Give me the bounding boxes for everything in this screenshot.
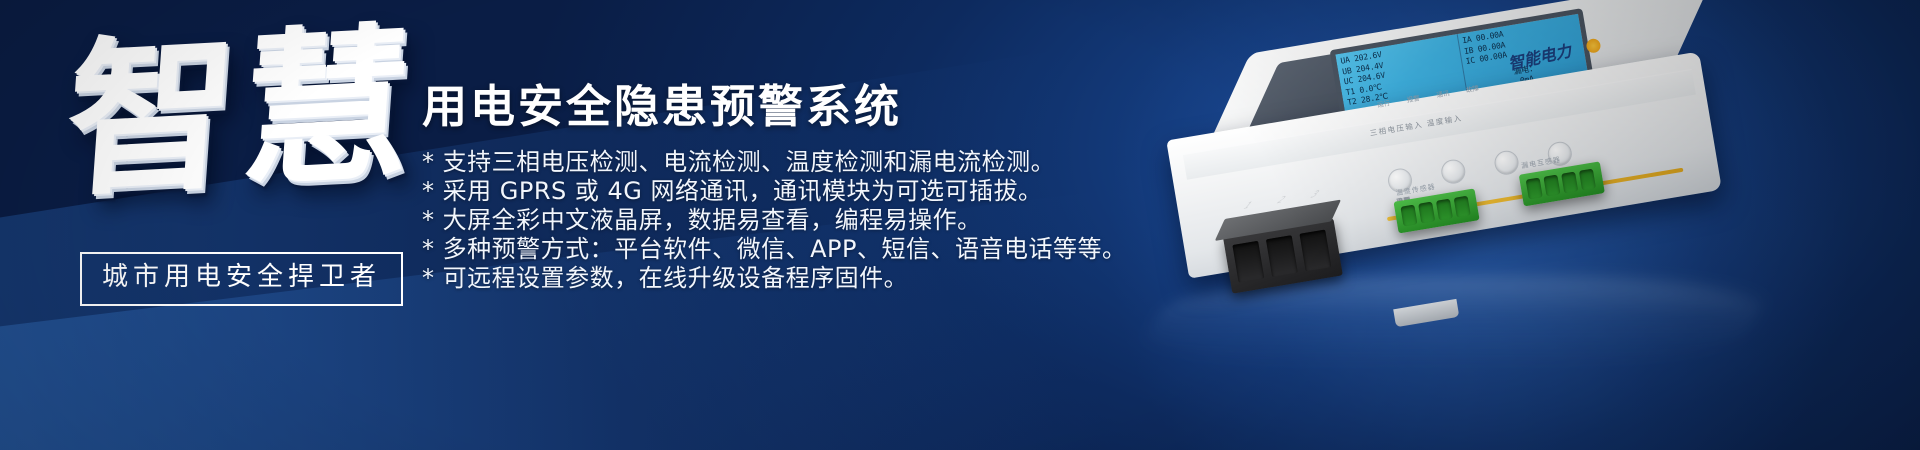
green-terminal-pin	[1418, 202, 1435, 224]
terminal-block-green-left: 温度传感器	[1393, 188, 1479, 233]
product-image: UA 202.6V UB 204.4V UC 204.6V T1 0.0℃ T2…	[1085, 8, 1885, 388]
device-button-down[interactable]: 下翻	[1493, 149, 1521, 177]
green-terminal-pin	[1526, 177, 1543, 199]
calligraphy-text: 智慧	[61, 19, 415, 205]
terminal-number-1: 1	[1241, 200, 1255, 212]
calligraphy-block: 智慧	[68, 28, 408, 268]
led-label-fault: 故障	[1465, 82, 1479, 94]
terminal-number-2: 2	[1274, 194, 1288, 206]
device-button-up[interactable]: 上翻	[1439, 158, 1467, 186]
green-terminal-pin	[1454, 196, 1471, 218]
terminal-pin	[1266, 235, 1298, 277]
green-terminal-pin	[1543, 175, 1560, 197]
list-item: * 大屏全彩中文液晶屏，数据易查看，编程易操作。	[422, 206, 1122, 235]
green-terminal-pin	[1436, 199, 1453, 221]
led-label-alarm: 报警	[1406, 92, 1420, 104]
terminal-number-3: 3	[1308, 188, 1322, 200]
green-terminal-pin	[1400, 205, 1417, 227]
green-terminal-pin	[1579, 169, 1596, 191]
led-label-run: 运行	[1376, 97, 1390, 109]
list-item: * 支持三相电压检测、电流检测、温度检测和漏电流检测。	[422, 148, 1122, 177]
copy-block: 用电安全隐患预警系统 * 支持三相电压检测、电流检测、温度检测和漏电流检测。 *…	[422, 82, 1122, 293]
feature-list: * 支持三相电压检测、电流检测、温度检测和漏电流检测。 * 采用 GPRS 或 …	[422, 148, 1122, 293]
led-label-comm: 通讯	[1435, 87, 1449, 99]
terminal-block-green-right: 漏电互感器	[1519, 161, 1605, 206]
promo-banner: 智慧 城市用电安全捍卫者 用电安全隐患预警系统 * 支持三相电压检测、电流检测、…	[0, 0, 1920, 450]
tagline-badge: 城市用电安全捍卫者	[80, 252, 403, 306]
front-strip-label: 三相电压输入 温度输入	[1369, 112, 1463, 138]
terminal-pin	[1232, 241, 1264, 283]
din-rail-clip	[1393, 299, 1459, 327]
list-item: * 采用 GPRS 或 4G 网络通讯，通讯模块为可选可插拔。	[422, 177, 1122, 206]
list-item: * 多种预警方式：平台软件、微信、APP、短信、语音电话等等。	[422, 235, 1122, 264]
green-terminal-pin	[1561, 172, 1578, 194]
terminal-block-black: 1 2 3	[1223, 218, 1343, 294]
list-item: * 可远程设置参数，在线升级设备程序固件。	[422, 264, 1122, 293]
page-title: 用电安全隐患预警系统	[422, 82, 1122, 132]
terminal-pin	[1299, 230, 1331, 272]
